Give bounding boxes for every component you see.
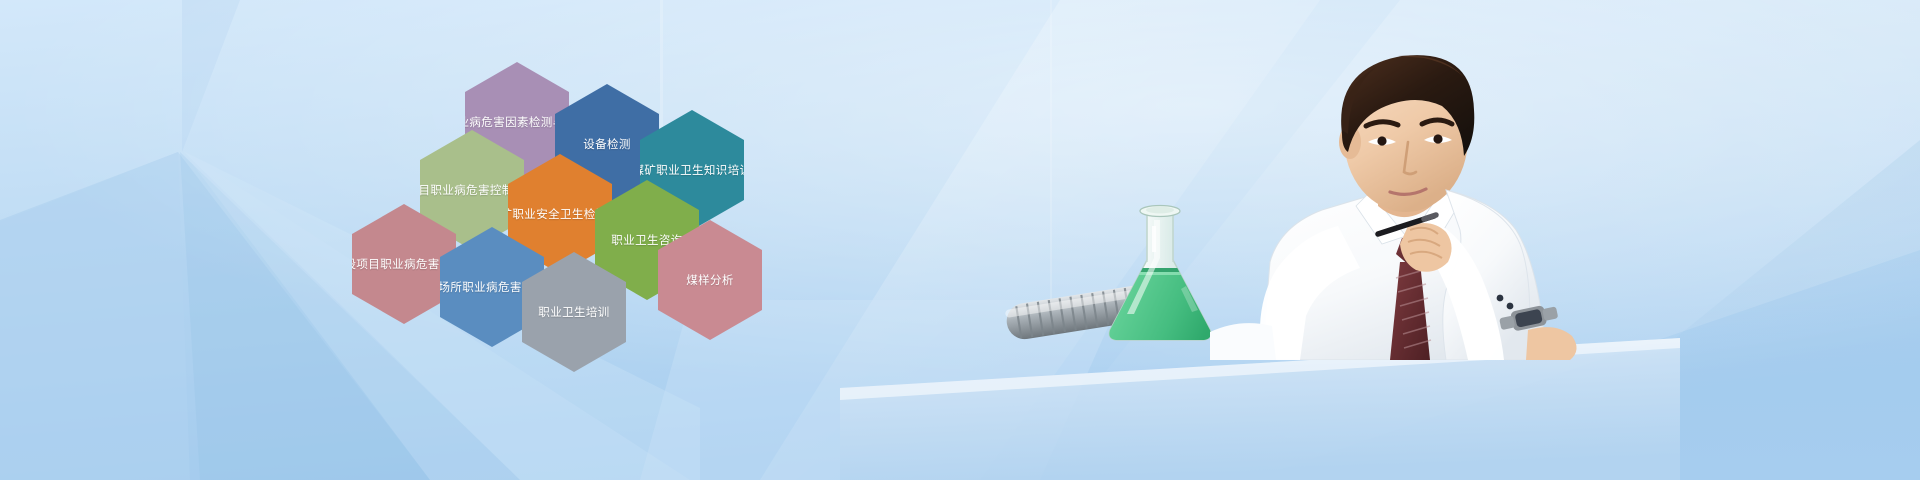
hex-pink-label: 煤样分析 [677, 272, 743, 289]
hex-gray-label: 职业卫生培训 [529, 304, 618, 321]
services-honeycomb: 职业病危害因素检测与评价 设备检测 煤矿职业卫生知识培训 建设项目职业病危害控制… [340, 62, 760, 342]
banner-root: 职业病危害因素检测与评价 设备检测 煤矿职业卫生知识培训 建设项目职业病危害控制… [0, 0, 1920, 480]
laboratory-professional-photo [960, 0, 1660, 480]
erlenmeyer-flask [1090, 190, 1230, 350]
hex-blue-label: 设备检测 [574, 136, 640, 153]
hex-teal-label: 煤矿职业卫生知识培训 [624, 162, 761, 179]
man-thinking-with-pen [1210, 30, 1630, 360]
